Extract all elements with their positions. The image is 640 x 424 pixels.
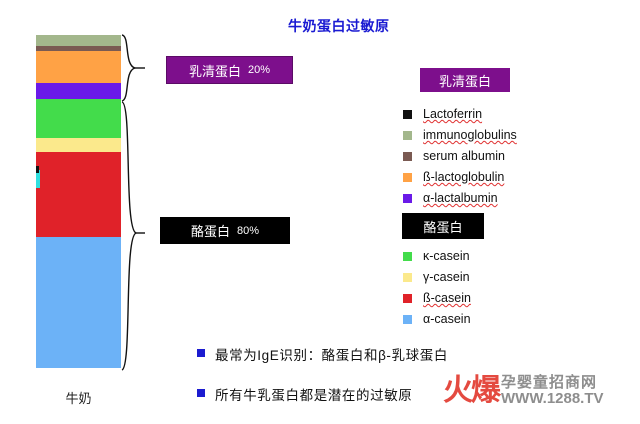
- legend-item-label: Lactoferrin: [423, 107, 482, 121]
- legend-item: immunoglobulins: [403, 125, 517, 145]
- bar-segment--casein: [36, 99, 121, 138]
- legend-swatch-icon: [403, 252, 412, 261]
- legend-list-whey: Lactoferrinimmunoglobulinsserum albuminß…: [403, 104, 517, 209]
- legend-item: ß-casein: [403, 288, 471, 308]
- bar-segment--casein: [36, 237, 121, 368]
- bar-segment--lactoglobulin: [36, 51, 121, 83]
- bullet-square-icon: [197, 389, 205, 397]
- whey-callout-percent: 20%: [248, 64, 270, 76]
- bullet-text-1: 最常为IgE识别：酪蛋白和β-乳球蛋白: [215, 344, 448, 364]
- legend-list-casein: κ-caseinγ-caseinß-caseinα-casein: [403, 246, 471, 330]
- casein-callout-percent: 80%: [237, 225, 259, 237]
- bullet-square-icon: [197, 349, 205, 357]
- legend-heading-whey-label: 乳清蛋白: [439, 71, 491, 90]
- bullet-text-2: 所有牛乳蛋白都是潜在的过敏原: [215, 384, 412, 404]
- legend-swatch-icon: [403, 131, 412, 140]
- casein-callout-label: 酪蛋白: [191, 221, 230, 240]
- legend-swatch-icon: [403, 294, 412, 303]
- legend-item: κ-casein: [403, 246, 471, 266]
- bar-segment-immunoglobulins: [36, 35, 121, 46]
- legend-heading-casein-label: 酪蛋白: [423, 217, 462, 236]
- watermark-url: WWW.1288.TV: [501, 391, 604, 406]
- legend-item: α-lactalbumin: [403, 188, 517, 208]
- milk-protein-stacked-bar: [36, 35, 121, 368]
- whey-brace: [120, 33, 146, 103]
- legend-swatch-icon: [403, 173, 412, 182]
- legend-item-label: α-lactalbumin: [423, 191, 498, 205]
- casein-callout-badge[interactable]: 酪蛋白 80%: [160, 217, 290, 244]
- legend-item-label: κ-casein: [423, 249, 470, 263]
- legend-item: α-casein: [403, 309, 471, 329]
- bar-segment--lactalbumin: [36, 83, 121, 99]
- bar-segment--casein: [36, 152, 121, 237]
- slide-canvas: 牛奶蛋白过敏原 牛奶 乳清蛋白 20% 酪蛋白 80% 乳清蛋白 Lactofe…: [0, 0, 640, 424]
- watermark-text-group: 孕婴童招商网 WWW.1288.TV: [501, 375, 604, 406]
- watermark: 火爆 孕婴童招商网 WWW.1288.TV: [443, 375, 604, 406]
- legend-swatch-icon: [403, 273, 412, 282]
- legend-item-label: immunoglobulins: [423, 128, 517, 142]
- bar-segment--casein: [36, 138, 121, 152]
- legend-swatch-icon: [403, 194, 412, 203]
- legend-item-label: ß-casein: [423, 291, 471, 305]
- legend-item-label: ß-lactoglobulin: [423, 170, 504, 184]
- legend-swatch-icon: [403, 110, 412, 119]
- legend-item: Lactoferrin: [403, 104, 517, 124]
- watermark-logo-mark: 火爆: [443, 376, 499, 406]
- bullet-item-2: 所有牛乳蛋白都是潜在的过敏原: [197, 384, 412, 404]
- bullet-item-1: 最常为IgE识别：酪蛋白和β-乳球蛋白: [197, 344, 448, 364]
- legend-heading-whey: 乳清蛋白: [420, 68, 510, 92]
- page-title: 牛奶蛋白过敏原: [288, 16, 390, 36]
- whey-callout-badge[interactable]: 乳清蛋白 20%: [166, 56, 293, 84]
- legend-item: ß-lactoglobulin: [403, 167, 517, 187]
- bar-caption: 牛奶: [36, 388, 121, 407]
- legend-item: γ-casein: [403, 267, 471, 287]
- legend-item-label: serum albumin: [423, 149, 505, 163]
- legend-item-label: α-casein: [423, 312, 471, 326]
- legend-item-label: γ-casein: [423, 270, 470, 284]
- legend-item: serum albumin: [403, 146, 517, 166]
- whey-callout-label: 乳清蛋白: [189, 61, 241, 80]
- legend-heading-casein: 酪蛋白: [402, 213, 484, 239]
- legend-swatch-icon: [403, 152, 412, 161]
- watermark-site-name: 孕婴童招商网: [501, 375, 604, 390]
- casein-brace: [120, 100, 146, 372]
- bar-edge-marker-black: [36, 166, 39, 173]
- legend-swatch-icon: [403, 315, 412, 324]
